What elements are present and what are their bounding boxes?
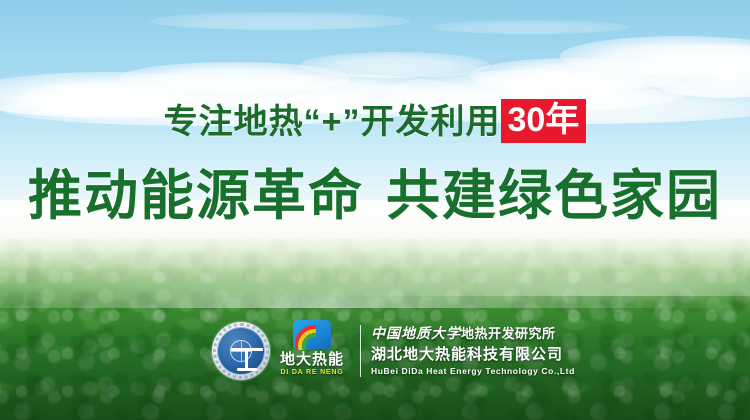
subline-middle: 开发利用 [361,100,501,144]
org-institute-name: 地热开发研究所 [461,326,556,341]
organization-names: 中国地质大学地热开发研究所 湖北地大热能科技有限公司 HuBei DiDa He… [371,320,575,382]
lockup-divider [360,325,361,377]
seal-inner-disc [217,327,265,375]
banner-copy: 专注地热“+”开发利用30年 推动能源革命共建绿色家园 [0,0,750,420]
dida-logo-tile [293,320,331,350]
org-company-name-cn: 湖北地大热能科技有限公司 [371,344,575,365]
org-university-name: 中国地质大学 [371,327,461,342]
logo-lockup: 地大热能 DI DA RE NENG 中国地质大学地热开发研究所 湖北地大热能科… [212,316,542,386]
rainbow-arc-group [296,323,328,350]
dida-logo-cn-text: 地大热能 [276,351,348,368]
headline-left: 推动能源革命 [28,166,364,226]
org-company-name-en: HuBei DiDa Heat Energy Technology Co.,Lt… [371,365,575,378]
anniversary-badge: 30年 [501,99,587,143]
org-institute-line: 中国地质大学地热开发研究所 [371,324,575,344]
seal-emblem-stem [245,348,248,370]
university-seal-icon [212,322,270,380]
seal-emblem-foot [237,368,257,371]
promotional-banner: 专注地热“+”开发利用30年 推动能源革命共建绿色家园 [0,0,750,420]
seal-globe-icon [230,340,252,362]
dida-reneng-logo-icon: 地大热能 DI DA RE NENG [276,320,348,382]
subline: 专注地热“+”开发利用30年 [0,98,750,144]
dida-logo-en-text: DI DA RE NENG [276,368,348,377]
headline-right: 共建绿色家园 [386,166,722,226]
headline: 推动能源革命共建绿色家园 [0,164,750,228]
subline-prefix: 专注地热 [164,100,304,144]
subline-quoted-plus: “+” [304,100,361,144]
